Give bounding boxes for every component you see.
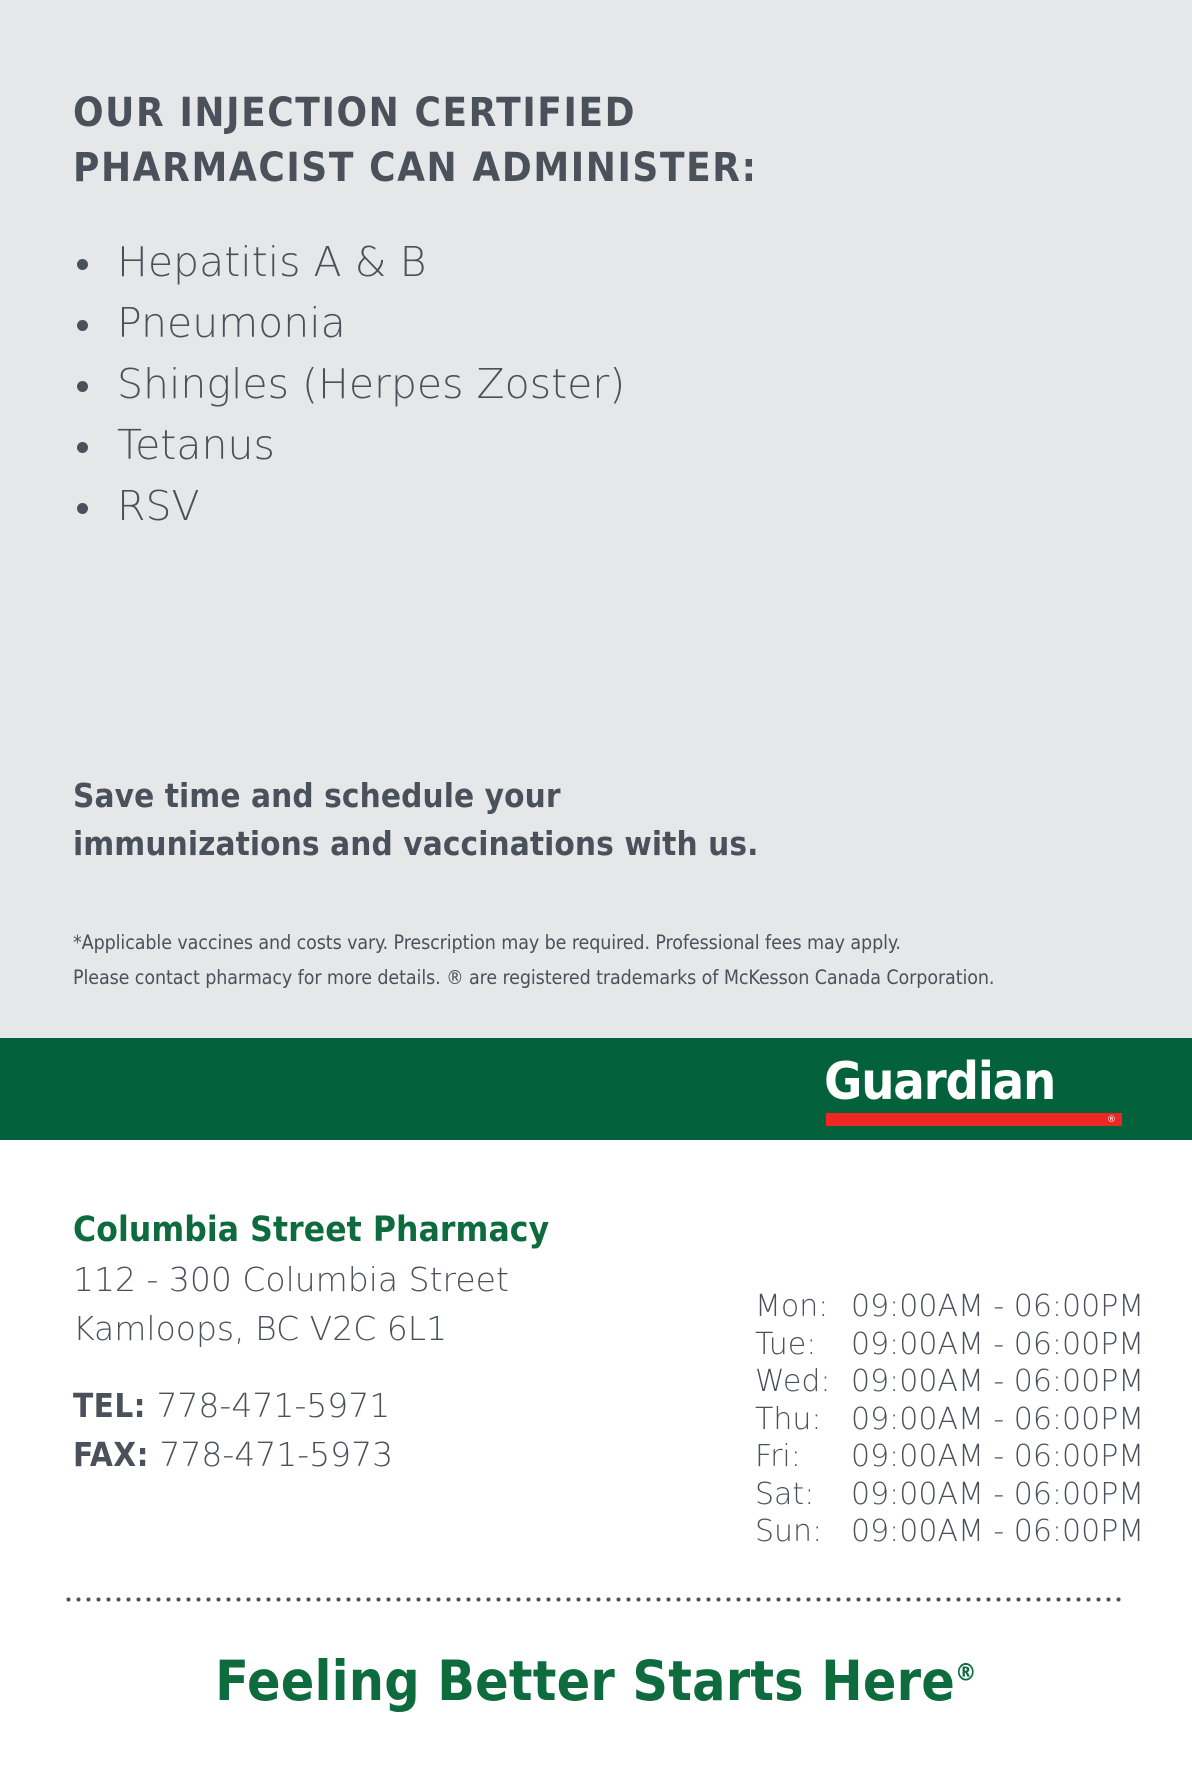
dotted-divider xyxy=(66,1597,1124,1602)
list-item: Pneumonia xyxy=(73,293,625,354)
bullet-icon xyxy=(77,320,88,331)
list-item-label: Hepatitis A & B xyxy=(117,238,426,286)
bullet-icon xyxy=(77,259,88,270)
page-title-line-1: OUR INJECTION CERTIFIED xyxy=(73,86,933,141)
brand-tagline: Feeling Better Starts Here® xyxy=(0,1645,1192,1717)
hours-day-label: Thu: xyxy=(755,1401,851,1439)
hours-day-label: Sat: xyxy=(755,1476,851,1514)
hours-day-label: Tue: xyxy=(755,1326,851,1364)
list-item-label: RSV xyxy=(117,482,200,530)
table-row: Sun: 09:00AM - 06:00PM xyxy=(755,1513,1144,1551)
guardian-logo: Guardian ® xyxy=(824,1054,1122,1128)
guardian-logo-underline-bar xyxy=(826,1113,1122,1126)
hours-time-value: 09:00AM - 06:00PM xyxy=(851,1401,1144,1439)
table-row: Mon: 09:00AM - 06:00PM xyxy=(755,1288,1144,1326)
hours-time-value: 09:00AM - 06:00PM xyxy=(851,1476,1144,1514)
vaccine-list: Hepatitis A & B Pneumonia Shingles (Herp… xyxy=(73,232,625,537)
store-identity: Columbia Street Pharmacy 112 - 300 Colum… xyxy=(73,1205,673,1353)
fax-label: FAX: xyxy=(73,1435,149,1474)
page-title: OUR INJECTION CERTIFIED PHARMACIST CAN A… xyxy=(73,86,933,196)
store-name: Columbia Street Pharmacy xyxy=(73,1205,673,1255)
registered-trademark-icon: ® xyxy=(1107,1114,1116,1127)
hours-time-value: 09:00AM - 06:00PM xyxy=(851,1326,1144,1364)
table-row: Wed: 09:00AM - 06:00PM xyxy=(755,1363,1144,1401)
callout-line-2: immunizations and vaccinations with us. xyxy=(73,820,973,868)
hours-time-value: 09:00AM - 06:00PM xyxy=(851,1363,1144,1401)
list-item-label: Shingles (Herpes Zoster) xyxy=(117,360,625,408)
hours-day-label: Wed: xyxy=(755,1363,851,1401)
bullet-icon xyxy=(77,381,88,392)
table-row: Tue: 09:00AM - 06:00PM xyxy=(755,1326,1144,1364)
store-hours-table: Mon: 09:00AM - 06:00PM Tue: 09:00AM - 06… xyxy=(755,1288,1144,1551)
table-row: Fri: 09:00AM - 06:00PM xyxy=(755,1438,1144,1476)
brand-tagline-text: Feeling Better Starts Here xyxy=(215,1649,955,1713)
store-address-line-1: 112 - 300 Columbia Street xyxy=(73,1255,673,1304)
hours-time-value: 09:00AM - 06:00PM xyxy=(851,1288,1144,1326)
registered-trademark-icon: ® xyxy=(955,1659,977,1687)
page-title-line-2: PHARMACIST CAN ADMINISTER: xyxy=(73,141,933,196)
disclaimer-line-1: *Applicable vaccines and costs vary. Pre… xyxy=(73,925,1133,960)
hours-day-label: Fri: xyxy=(755,1438,851,1476)
store-contact: TEL: 778-471-5971 FAX: 778-471-5973 xyxy=(73,1381,673,1479)
hours-time-value: 09:00AM - 06:00PM xyxy=(851,1438,1144,1476)
hours-day-label: Sun: xyxy=(755,1513,851,1551)
telephone-value[interactable]: 778-471-5971 xyxy=(156,1386,390,1425)
telephone-label: TEL: xyxy=(73,1386,146,1425)
fax-row: FAX: 778-471-5973 xyxy=(73,1430,673,1479)
bullet-icon xyxy=(77,442,88,453)
store-address-line-2: Kamloops, BC V2C 6L1 xyxy=(73,1304,673,1353)
fax-value: 778-471-5973 xyxy=(159,1435,393,1474)
top-info-panel: OUR INJECTION CERTIFIED PHARMACIST CAN A… xyxy=(0,0,1192,1038)
list-item: Tetanus xyxy=(73,415,625,476)
hours-day-label: Mon: xyxy=(755,1288,851,1326)
disclaimer-line-2: Please contact pharmacy for more details… xyxy=(73,960,1133,995)
guardian-logo-wordmark: Guardian xyxy=(824,1054,1122,1110)
flyer-page: OUR INJECTION CERTIFIED PHARMACIST CAN A… xyxy=(0,0,1192,1785)
brand-banner: Guardian ® xyxy=(0,1038,1192,1140)
list-item: Shingles (Herpes Zoster) xyxy=(73,354,625,415)
list-item: Hepatitis A & B xyxy=(73,232,625,293)
hours-time-value: 09:00AM - 06:00PM xyxy=(851,1513,1144,1551)
list-item-label: Tetanus xyxy=(117,421,275,469)
table-row: Thu: 09:00AM - 06:00PM xyxy=(755,1401,1144,1439)
callout-text: Save time and schedule your immunization… xyxy=(73,772,973,867)
list-item: RSV xyxy=(73,476,625,537)
list-item-label: Pneumonia xyxy=(117,299,346,347)
bullet-icon xyxy=(77,503,88,514)
table-row: Sat: 09:00AM - 06:00PM xyxy=(755,1476,1144,1514)
callout-line-1: Save time and schedule your xyxy=(73,772,973,820)
telephone-row: TEL: 778-471-5971 xyxy=(73,1381,673,1430)
disclaimer-text: *Applicable vaccines and costs vary. Pre… xyxy=(73,925,1133,995)
